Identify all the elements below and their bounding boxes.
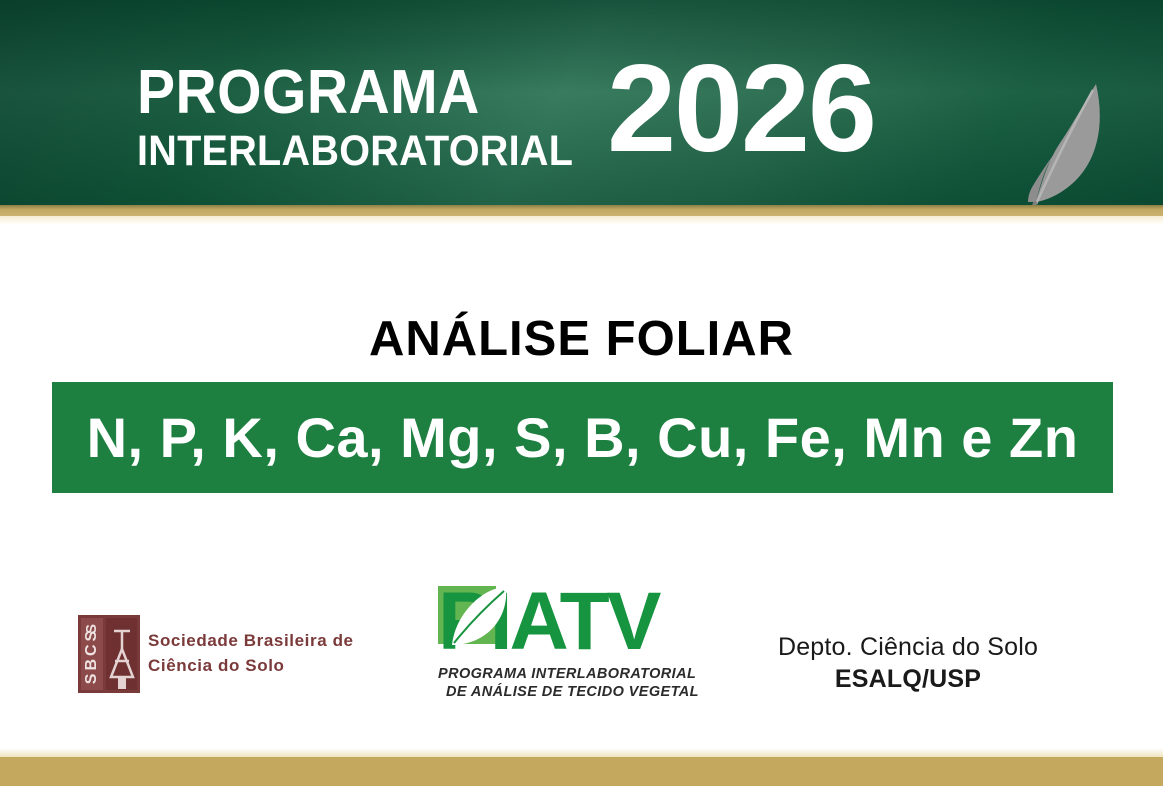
gold-divider-bottom-fade: [0, 748, 1163, 757]
gold-divider-bottom: [0, 757, 1163, 786]
gold-divider-top-fade: [0, 216, 1163, 224]
department-name: Depto. Ciência do Solo: [758, 633, 1058, 662]
piatv-subtitle: PROGRAMA INTERLABORATORIAL DE ANÁLISE DE…: [438, 665, 738, 701]
poster-page: PROGRAMA INTERLABORATORIAL 2026 ANÁLISE …: [0, 0, 1163, 786]
gold-divider-top: [0, 205, 1163, 216]
program-line2: INTERLABORATORIAL: [137, 130, 573, 173]
piatv-wordmark-group: PIATV: [438, 583, 738, 663]
department-credit: Depto. Ciência do Solo ESALQ/USP: [758, 633, 1058, 694]
institution-name: ESALQ/USP: [758, 665, 1058, 694]
piatv-sub-line1: PROGRAMA INTERLABORATORIAL: [438, 666, 696, 682]
program-wordmark: PROGRAMA INTERLABORATORIAL: [137, 62, 611, 173]
sbcs-line2: Ciência do Solo: [148, 654, 354, 679]
sbcs-logo-icon: S SBCS: [78, 615, 140, 693]
elements-list: N, P, K, Ca, Mg, S, B, Cu, Fe, Mn e Zn: [87, 405, 1079, 470]
elements-banner: N, P, K, Ca, Mg, S, B, Cu, Fe, Mn e Zn: [52, 382, 1113, 493]
svg-text:SBCS: SBCS: [83, 628, 100, 684]
piatv-logo: PIATV PROGRAMA INTERLABORATORIAL DE ANÁL…: [438, 583, 738, 701]
banner-title-group: PROGRAMA INTERLABORATORIAL 2026: [137, 62, 875, 173]
program-line1: PROGRAMA: [137, 62, 573, 124]
header-banner: PROGRAMA INTERLABORATORIAL 2026: [0, 0, 1163, 205]
piatv-sub-line2: DE ANÁLISE DE TECIDO VEGETAL: [446, 683, 738, 701]
sbcs-logo: S SBCS Sociedade Brasileira de Ciência d…: [78, 615, 354, 693]
footer-logos: S SBCS Sociedade Brasileira de Ciência d…: [0, 575, 1163, 720]
page-title: ANÁLISE FOLIAR: [0, 311, 1163, 367]
sbcs-line1: Sociedade Brasileira de: [148, 629, 354, 654]
sbcs-logo-text: Sociedade Brasileira de Ciência do Solo: [148, 629, 354, 678]
leaf-icon: [1000, 78, 1120, 205]
piatv-wordmark: PIATV: [438, 583, 658, 661]
year-label: 2026: [607, 54, 875, 166]
